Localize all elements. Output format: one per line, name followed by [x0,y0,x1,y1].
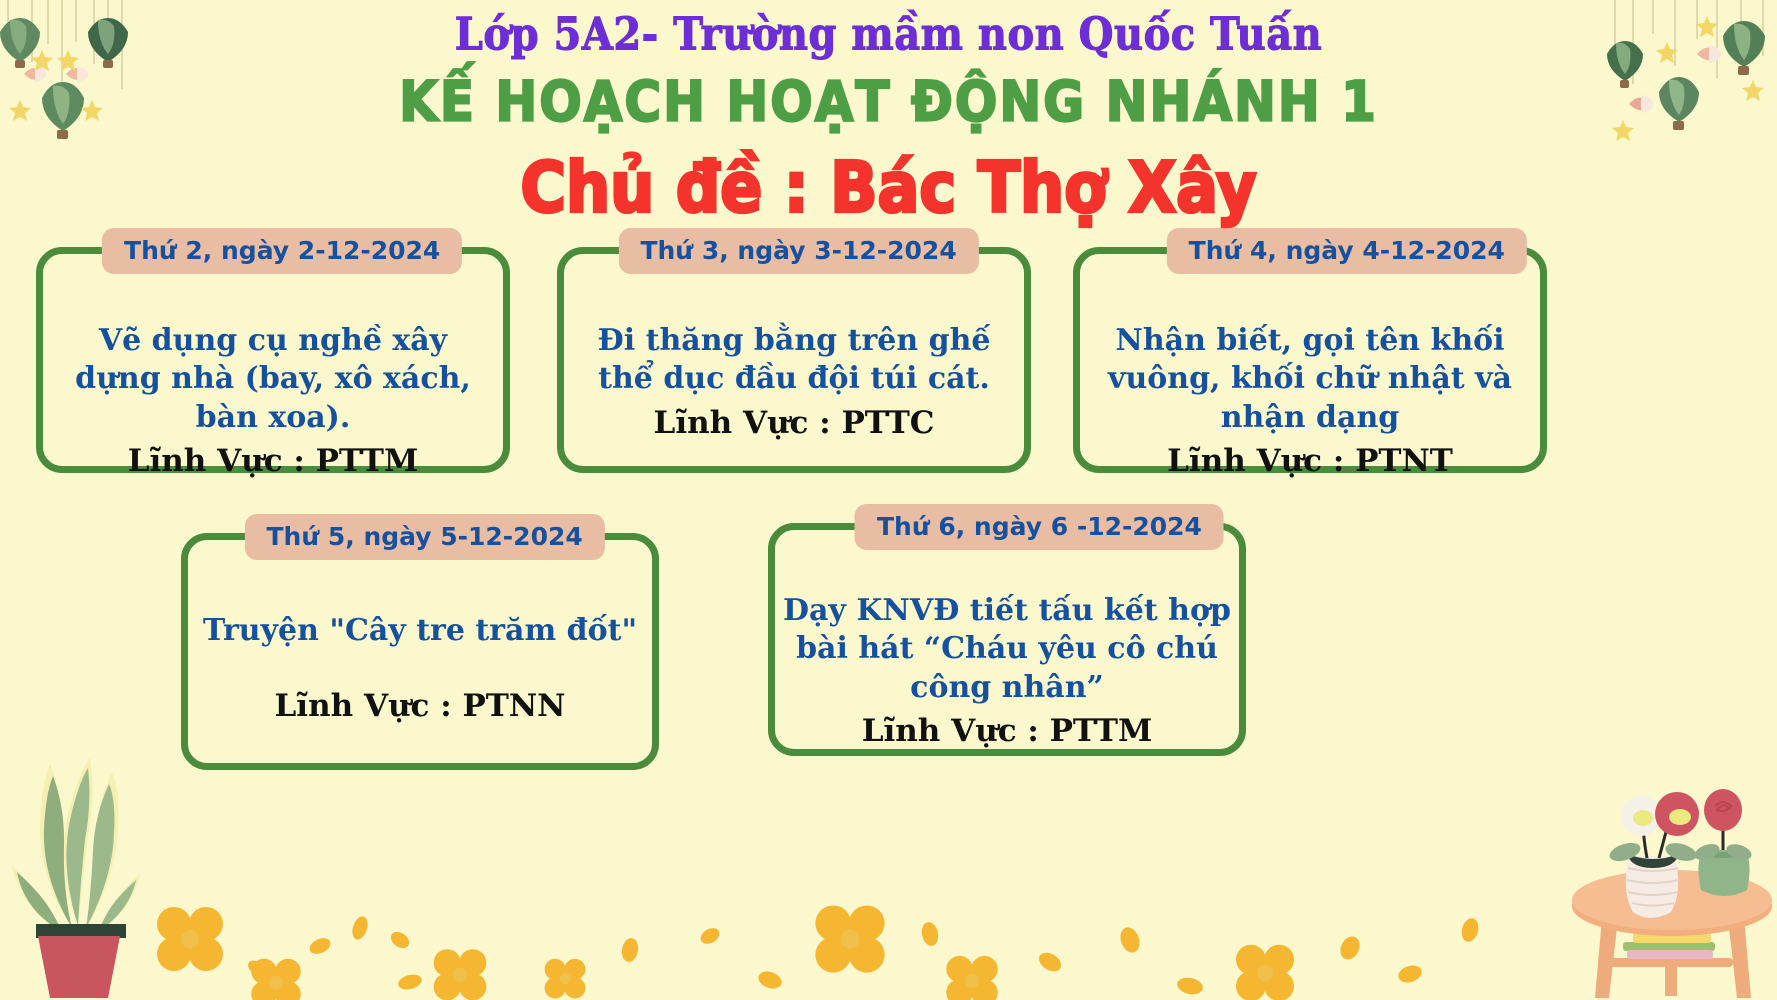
date-chip: Thứ 2, ngày 2-12-2024 [102,228,462,274]
plan-title-line: KẾ HOẠCH HOẠT ĐỘNG NHÁNH 1 [0,70,1777,134]
day-card-tuesday: Thứ 3, ngày 3-12-2024 Đi thăng bằng trên… [557,247,1031,473]
day-card-monday: Thứ 2, ngày 2-12-2024 Vẽ dụng cụ nghề xâ… [36,247,510,473]
activity-text: Truyện "Cây tre trăm đốt" [188,612,652,650]
activity-text: Đi thăng bằng trên ghế thể dục đầu đội t… [564,322,1024,399]
hanging-balloons-right-icon [1601,0,1777,164]
card-body: Dạy KNVĐ tiết tấu kết hợp bài hát “Cháu … [775,592,1239,749]
potted-snake-plant-icon [10,740,150,1000]
field-text: Lĩnh Vực : PTTC [564,405,1024,441]
side-table-with-flower-vases-icon [1567,710,1777,1000]
field-text: Lĩnh Vực : PTTM [775,713,1239,749]
date-chip: Thứ 6, ngày 6 -12-2024 [855,504,1224,550]
card-body: Truyện "Cây tre trăm đốt" Lĩnh Vực : PTN… [188,612,652,724]
date-chip: Thứ 4, ngày 4-12-2024 [1167,228,1527,274]
school-class-line: Lớp 5A2- Trường mầm non Quốc Tuấn [0,8,1777,61]
field-text: Lĩnh Vực : PTTM [43,443,503,479]
poster-header: Lớp 5A2- Trường mầm non Quốc Tuấn KẾ HOẠ… [0,0,1777,224]
card-body: Nhận biết, gọi tên khối vuông, khối chữ … [1080,322,1540,479]
day-card-thursday: Thứ 5, ngày 5-12-2024 Truyện "Cây tre tr… [181,533,659,770]
day-card-friday: Thứ 6, ngày 6 -12-2024 Dạy KNVĐ tiết tấu… [768,523,1246,756]
card-body: Vẽ dụng cụ nghề xây dựng nhà (bay, xô xá… [43,322,503,479]
activity-text: Vẽ dụng cụ nghề xây dựng nhà (bay, xô xá… [43,322,503,437]
poster-canvas: Lớp 5A2- Trường mầm non Quốc Tuấn KẾ HOẠ… [0,0,1777,1000]
topic-title-line: Chủ đề : Bác Thợ Xây [0,147,1777,229]
activity-text: Dạy KNVĐ tiết tấu kết hợp bài hát “Cháu … [775,592,1239,707]
field-text: Lĩnh Vực : PTNN [188,688,652,724]
hanging-balloons-left-icon [0,0,136,154]
day-card-wednesday: Thứ 4, ngày 4-12-2024 Nhận biết, gọi tên… [1073,247,1547,473]
date-chip: Thứ 5, ngày 5-12-2024 [244,514,604,560]
date-chip: Thứ 3, ngày 3-12-2024 [618,228,978,274]
yellow-flowers-strip-icon [110,870,1530,1000]
card-body: Đi thăng bằng trên ghế thể dục đầu đội t… [564,322,1024,441]
activity-text: Nhận biết, gọi tên khối vuông, khối chữ … [1080,322,1540,437]
field-text: Lĩnh Vực : PTNT [1080,443,1540,479]
